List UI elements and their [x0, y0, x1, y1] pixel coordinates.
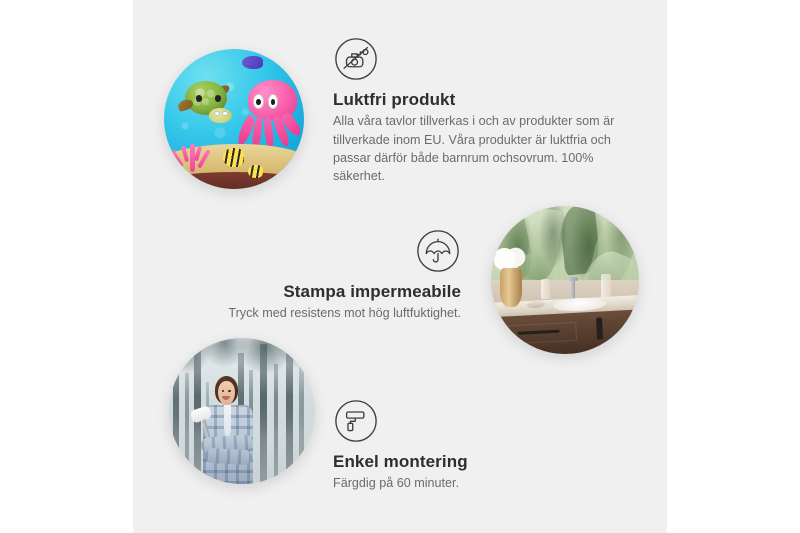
feature-title: Luktfri produkt — [333, 89, 621, 110]
underwater-scene — [164, 49, 304, 189]
bathroom-bottle — [541, 279, 550, 300]
turtle-head — [209, 108, 233, 123]
woman-arm-lower — [204, 448, 252, 466]
pink-coral — [171, 136, 216, 172]
turtle-pupil-right — [215, 95, 221, 101]
product-image-woman-with-roller-forest-wallpaper[interactable] — [169, 338, 315, 484]
feature-odourless: Luktfri produkt Alla våra tavlor tillver… — [333, 36, 621, 186]
feature-body: Tryck med resistens mot hög luftfuktighe… — [193, 304, 461, 322]
cabinet-handle — [595, 317, 602, 339]
feature-waterproof: Stampa impermeabile Tryck med resistens … — [193, 228, 461, 323]
forest-scene — [169, 338, 315, 484]
paint-roller-icon — [333, 398, 379, 444]
gold-vase — [500, 268, 522, 306]
feature-panel: Luktfri produkt Alla våra tavlor tillver… — [133, 0, 667, 533]
feature-body: Alla våra tavlor tillverkas i och av pro… — [333, 112, 621, 186]
feature-title: Stampa impermeabile — [193, 281, 461, 302]
faucet — [571, 277, 575, 301]
turtle-pupil-left — [196, 95, 202, 101]
screenshot-root: Luktfri produkt Alla våra tavlor tillver… — [0, 0, 800, 533]
umbrella-icon — [415, 228, 461, 274]
woman-with-paint-roller — [192, 376, 268, 484]
striped-fish — [223, 148, 244, 166]
feature-easy-install: Enkel montering Färgdig på 60 minuter. — [333, 398, 583, 493]
product-image-underwater-kids-illustration[interactable] — [164, 49, 304, 189]
bathroom-bottle — [601, 274, 611, 299]
octopus — [240, 80, 302, 153]
bathroom-scene — [491, 206, 639, 354]
octopus-pupil-right — [271, 99, 275, 105]
feature-title: Enkel montering — [333, 451, 583, 472]
sea-turtle — [178, 81, 237, 129]
purple-fish — [242, 56, 263, 69]
octopus-pupil-left — [256, 99, 260, 105]
striped-fish — [248, 165, 263, 178]
no-fragrance-icon — [333, 36, 379, 82]
sea-floor-rocks — [164, 172, 304, 189]
wood-vanity-cabinet — [496, 309, 639, 354]
feature-body: Färgdig på 60 minuter. — [333, 474, 583, 492]
product-image-bathroom-botanical-wallpaper[interactable] — [491, 206, 639, 354]
